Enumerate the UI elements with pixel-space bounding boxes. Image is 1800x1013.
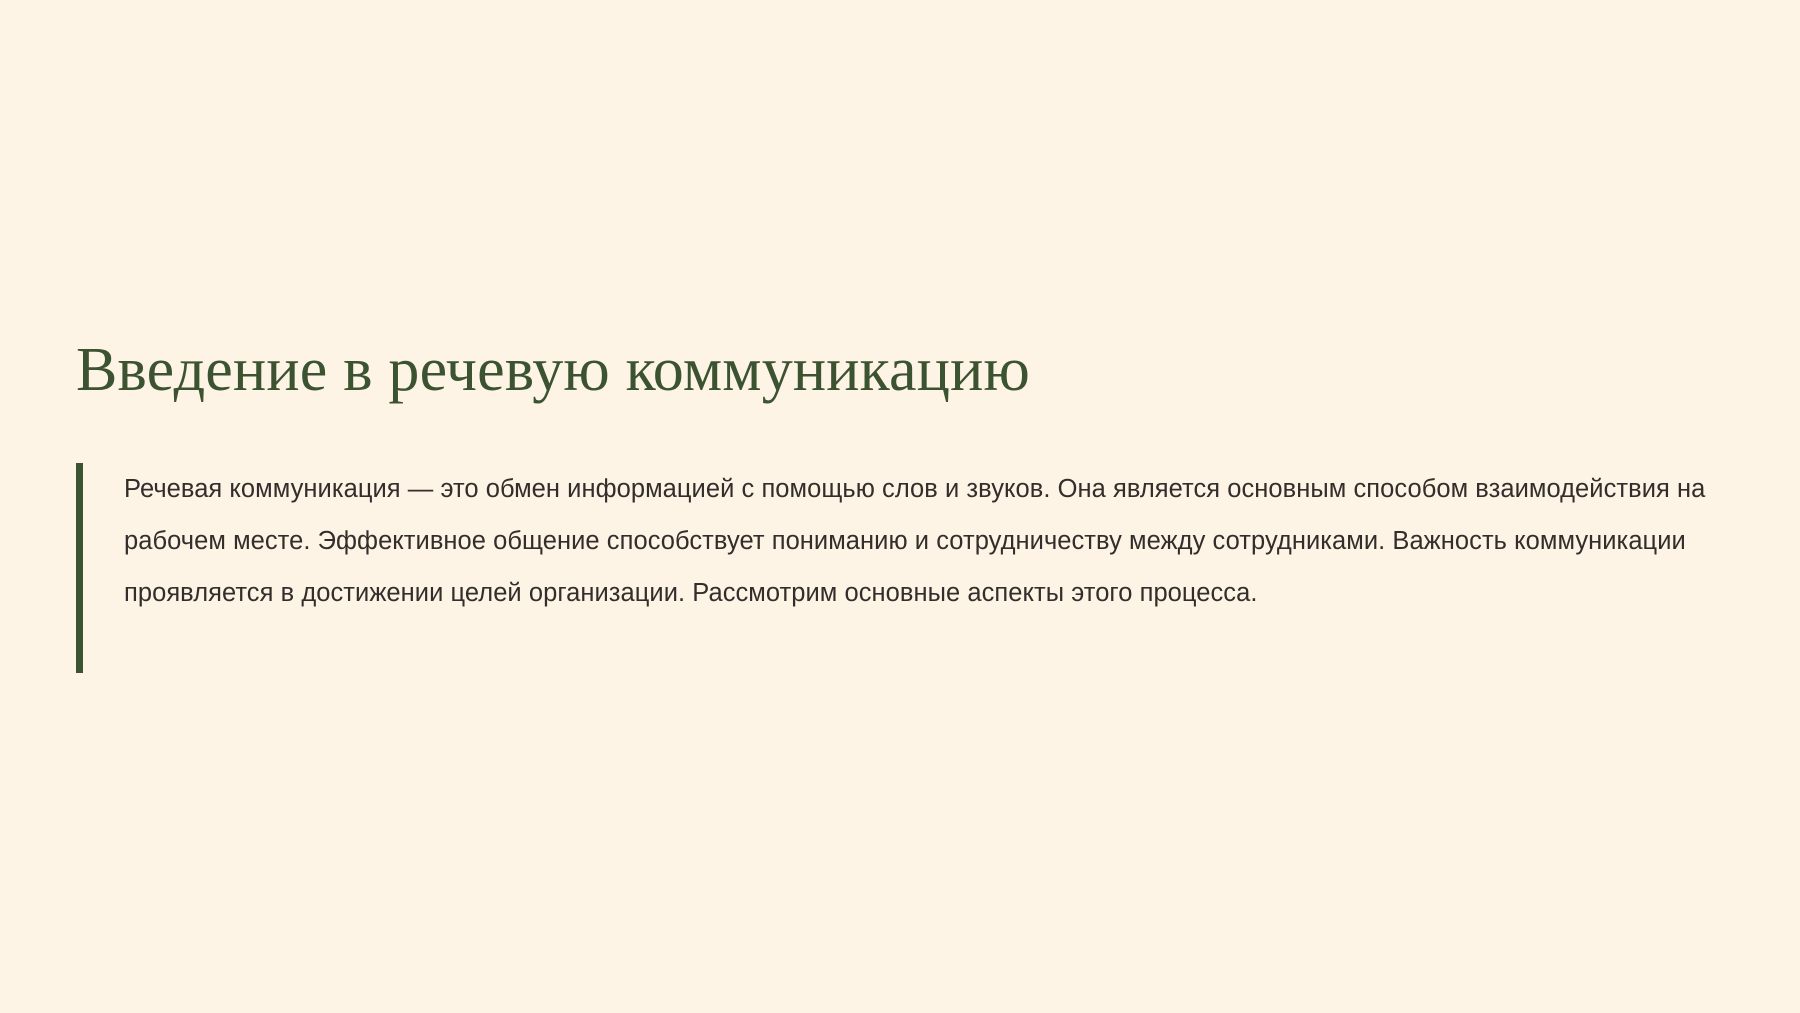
body-paragraph-block: Речевая коммуникация — это обмен информа… bbox=[76, 463, 1716, 673]
page-title: Введение в речевую коммуникацию bbox=[76, 337, 1716, 404]
body-paragraph: Речевая коммуникация — это обмен информа… bbox=[124, 463, 1714, 619]
slide-content-area: Введение в речевую коммуникацию Речевая … bbox=[0, 0, 1800, 1013]
accent-bar bbox=[76, 463, 83, 673]
body-text-container: Речевая коммуникация — это обмен информа… bbox=[83, 463, 1716, 673]
presentation-slide: Введение в речевую коммуникацию Речевая … bbox=[0, 0, 1800, 1013]
